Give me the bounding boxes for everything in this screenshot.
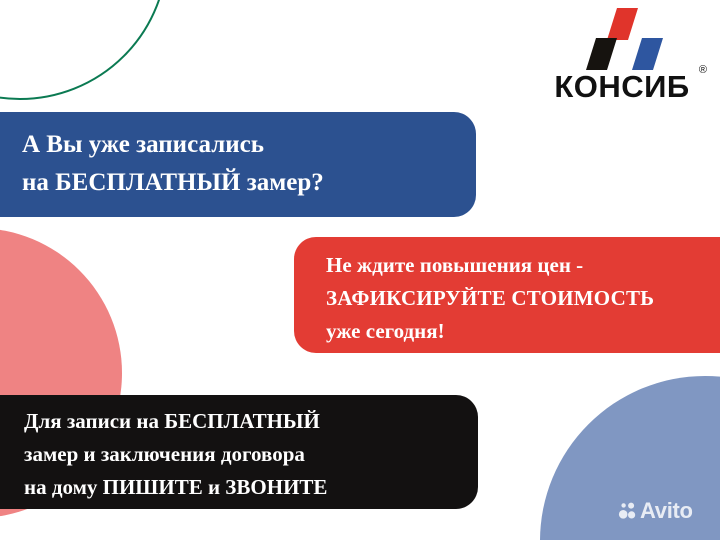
banner-blue-line-1: А Вы уже записались [22,126,476,164]
brand-wordmark: КОНСИБ [534,70,710,104]
banner-red-line-2: ЗАФИКСИРУЙТЕ СТОИМОСТЬ [326,282,720,315]
brand-logo: КОНСИБ ® [534,8,710,108]
banner-free-measurement-question: А Вы уже записались на БЕСПЛАТНЫЙ замер? [0,112,476,217]
banner-black-line-2: замер и заключения договора [24,438,478,471]
avito-watermark-label: Avito [640,500,693,522]
avito-dots-icon [618,501,638,521]
green-outline-circle-decoration [0,0,168,100]
banner-contact-call-to-action: Для записи на БЕСПЛАТНЫЙ замер и заключе… [0,395,478,509]
banner-price-lock-offer: Не ждите повышения цен - ЗАФИКСИРУЙТЕ СТ… [294,237,720,353]
banner-red-line-1: Не ждите повышения цен - [326,249,720,282]
registered-trademark-symbol: ® [699,64,707,76]
banner-black-line-1: Для записи на БЕСПЛАТНЫЙ [24,405,478,438]
avito-watermark: Avito [618,500,693,522]
banner-blue-line-2: на БЕСПЛАТНЫЙ замер? [22,164,476,202]
banner-black-line-3: на дому ПИШИТЕ и ЗВОНИТЕ [24,471,478,504]
konsib-logo-mark-icon [586,8,672,70]
poster-canvas: КОНСИБ ® А Вы уже записались на БЕСПЛАТН… [0,0,720,540]
banner-red-line-3: уже сегодня! [326,315,720,348]
